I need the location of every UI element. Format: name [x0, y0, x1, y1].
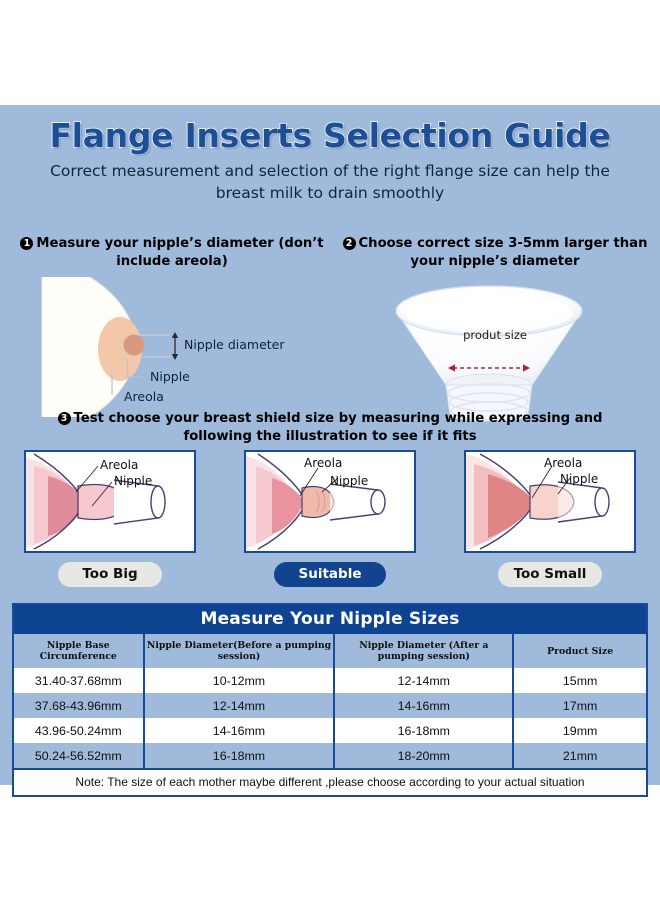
content-panel: Flange Inserts Selection Guide Correct m…	[0, 105, 660, 785]
table-row: 37.68-43.96mm 12-14mm 14-16mm 17mm	[14, 693, 646, 718]
nipple-size-table: Measure Your Nipple Sizes Nipple Base Ci…	[12, 603, 648, 797]
product-size-label: produt size	[336, 328, 654, 342]
areola-label: Areola	[124, 389, 164, 404]
fit-card-too-small: Areola Nipple Too Small	[464, 450, 636, 587]
step-2-text: Choose correct size 3-5mm larger than yo…	[359, 236, 648, 269]
step-2: 2Choose correct size 3-5mm larger than y…	[336, 235, 654, 423]
step-2-number-icon: 2	[343, 237, 356, 250]
col-diameter-before: Nipple Diameter(Before a pumping session…	[144, 634, 335, 668]
table-title: Measure Your Nipple Sizes	[14, 605, 646, 634]
table-row: 31.40-37.68mm 10-12mm 12-14mm 15mm	[14, 668, 646, 693]
cell-after: 14-16mm	[334, 693, 513, 718]
cell-before: 16-18mm	[144, 743, 335, 768]
suitable-areola-label: Areola	[304, 456, 342, 470]
fit-card-suitable: Areola Nipple Suitable	[244, 450, 416, 587]
cell-circumference: 31.40-37.68mm	[14, 668, 144, 693]
col-nipple-base-circumference: Nipple Base Circumference	[14, 634, 144, 668]
too-big-nipple-label: Nipple	[114, 474, 152, 488]
cell-product-size: 21mm	[513, 743, 646, 768]
fit-cards: Areola Nipple Too Big	[0, 450, 660, 587]
step-1-text: Measure your nipple’s diameter (don’t in…	[36, 236, 323, 269]
step-3-text: Test choose your breast shield size by m…	[74, 411, 603, 444]
too-small-nipple-label: Nipple	[560, 472, 598, 486]
step-1-number-icon: 1	[20, 237, 33, 250]
fit-card-too-big: Areola Nipple Too Big	[24, 450, 196, 587]
step-1: 1Measure your nipple’s diameter (don’t i…	[12, 235, 332, 417]
col-diameter-after: Nipple Diameter (After a pumping session…	[334, 634, 513, 668]
too-big-verdict-badge: Too Big	[58, 562, 162, 587]
cell-after: 12-14mm	[334, 668, 513, 693]
nipple-label: Nipple	[150, 369, 190, 384]
cell-product-size: 15mm	[513, 668, 646, 693]
cell-product-size: 17mm	[513, 693, 646, 718]
suitable-verdict-badge: Suitable	[274, 562, 386, 587]
table-body: 31.40-37.68mm 10-12mm 12-14mm 15mm 37.68…	[14, 668, 646, 768]
cell-before: 12-14mm	[144, 693, 335, 718]
step-1-heading: 1Measure your nipple’s diameter (don’t i…	[12, 235, 332, 271]
table-head: Nipple Base Circumference Nipple Diamete…	[14, 634, 646, 668]
page-title: Flange Inserts Selection Guide	[0, 119, 660, 154]
steps-row: 1Measure your nipple’s diameter (don’t i…	[0, 235, 660, 415]
table-note: Note: The size of each mother maybe diff…	[14, 768, 646, 795]
table-row: 50.24-56.52mm 16-18mm 18-20mm 21mm	[14, 743, 646, 768]
cell-circumference: 37.68-43.96mm	[14, 693, 144, 718]
step-2-heading: 2Choose correct size 3-5mm larger than y…	[336, 235, 654, 271]
cell-after: 18-20mm	[334, 743, 513, 768]
cell-circumference: 50.24-56.52mm	[14, 743, 144, 768]
table-header-row: Nipple Base Circumference Nipple Diamete…	[14, 634, 646, 668]
page-subtitle: Correct measurement and selection of the…	[30, 160, 630, 205]
cell-before: 10-12mm	[144, 668, 335, 693]
nipple-diameter-label: Nipple diameter	[184, 337, 285, 352]
too-small-illustration: Areola Nipple	[464, 450, 636, 553]
guide-page: Flange Inserts Selection Guide Correct m…	[0, 0, 660, 900]
cell-before: 14-16mm	[144, 718, 335, 743]
cell-circumference: 43.96-50.24mm	[14, 718, 144, 743]
breast-diagram: Nipple diameter Nipple Areola	[12, 277, 332, 417]
cell-product-size: 19mm	[513, 718, 646, 743]
table-row: 43.96-50.24mm 14-16mm 16-18mm 19mm	[14, 718, 646, 743]
size-table: Nipple Base Circumference Nipple Diamete…	[14, 634, 646, 768]
step-3-number-icon: 3	[58, 412, 71, 425]
cell-after: 16-18mm	[334, 718, 513, 743]
flange-illustration-svg	[336, 273, 654, 423]
too-big-illustration: Areola Nipple	[24, 450, 196, 553]
flange-diagram: produt size	[336, 273, 654, 423]
too-small-areola-label: Areola	[544, 456, 582, 470]
too-small-verdict-badge: Too Small	[498, 562, 602, 587]
too-big-areola-label: Areola	[100, 458, 138, 472]
step-3-heading: 3Test choose your breast shield size by …	[30, 410, 630, 446]
header: Flange Inserts Selection Guide Correct m…	[0, 105, 660, 205]
suitable-illustration: Areola Nipple	[244, 450, 416, 553]
col-product-size: Product Size	[513, 634, 646, 668]
suitable-nipple-label: Nipple	[330, 474, 368, 488]
